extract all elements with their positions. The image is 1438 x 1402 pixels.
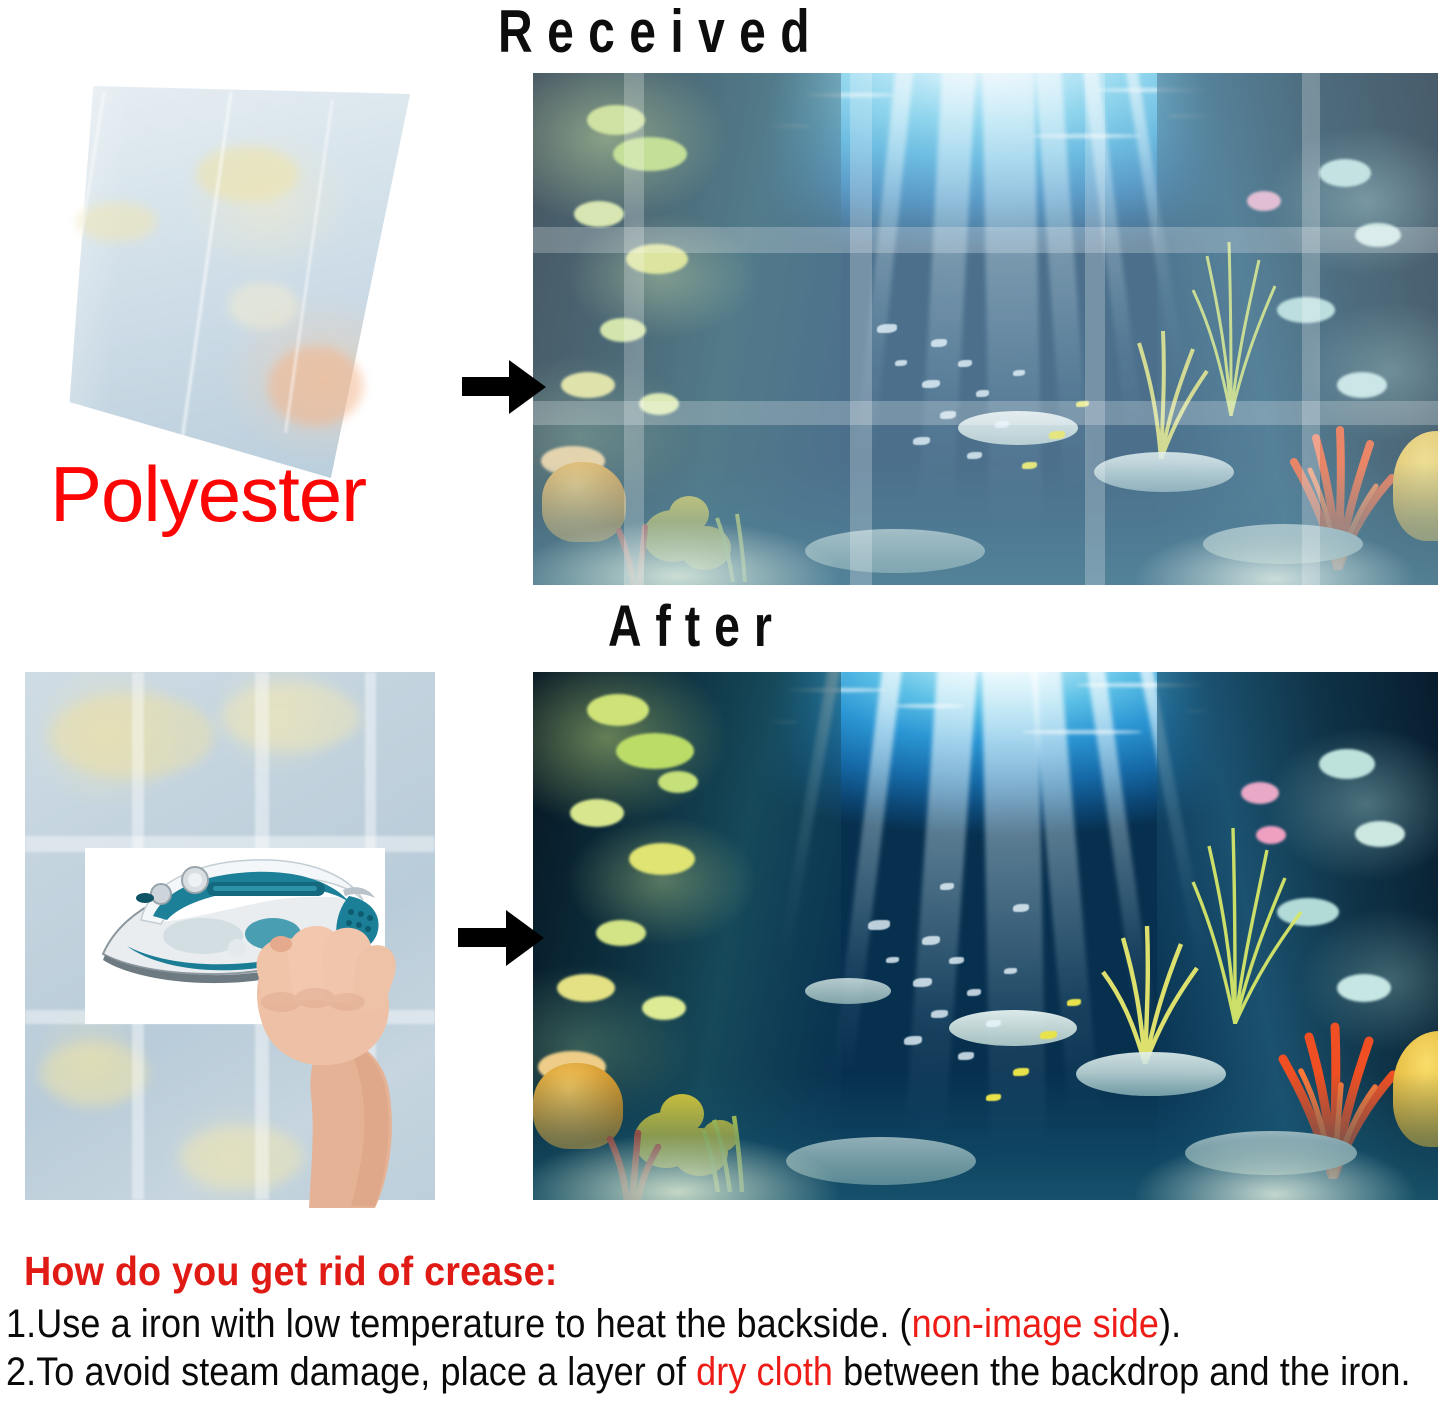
ironing-photo xyxy=(25,672,435,1200)
ghost-print-b xyxy=(222,683,361,752)
instruction-2-prefix: 2.To avoid steam damage, place a layer o… xyxy=(6,1350,696,1394)
instruction-2-highlight: dry cloth xyxy=(696,1350,833,1394)
instruction-1-highlight: non-image side xyxy=(912,1302,1159,1346)
material-label: Polyester xyxy=(50,455,366,533)
right-arrow-icon xyxy=(458,908,544,968)
print-ghost-orange xyxy=(268,346,363,426)
fish-school xyxy=(533,672,1438,1200)
instruction-1-prefix: 1.Use a iron with low temperature to hea… xyxy=(6,1302,912,1346)
after-heading: After xyxy=(608,598,786,656)
instruction-1-suffix: ). xyxy=(1159,1302,1181,1346)
right-arrow-icon xyxy=(462,358,546,416)
folded-fabric-photo xyxy=(22,82,418,482)
instruction-line-1: 1.Use a iron with low temperature to hea… xyxy=(6,1302,1181,1347)
instruction-2-suffix: between the backdrop and the iron. xyxy=(833,1350,1411,1394)
print-ghost-yellow-b xyxy=(77,202,156,242)
folded-fabric-sheet xyxy=(22,82,418,482)
print-ghost-yellow-a xyxy=(196,146,299,202)
howto-heading: How do you get rid of crease: xyxy=(24,1248,557,1295)
hand-icon xyxy=(237,908,437,1208)
received-heading: Received xyxy=(498,2,824,62)
instruction-line-2: 2.To avoid steam damage, place a layer o… xyxy=(6,1350,1411,1395)
print-ghost-cream xyxy=(228,282,299,330)
fish-school xyxy=(533,73,1438,585)
after-backdrop-photo xyxy=(533,672,1438,1200)
received-backdrop-photo xyxy=(533,73,1438,585)
